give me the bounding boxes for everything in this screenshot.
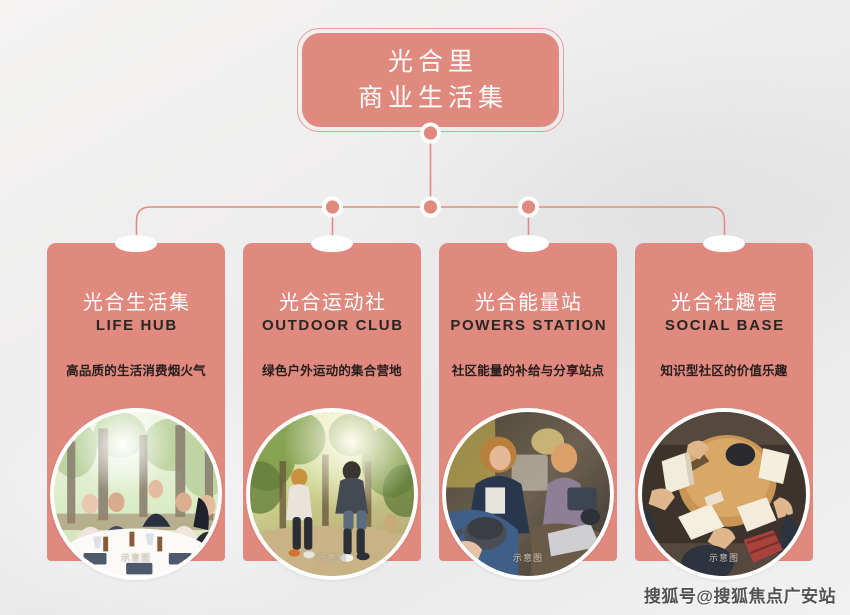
card-title-en: OUTDOOR CLUB xyxy=(243,317,421,334)
category-card-life-hub[interactable]: 光合生活集 LIFE HUB 高品质的生活消费烟火气 xyxy=(47,243,225,561)
photo-watermark: 示意图 xyxy=(250,551,414,564)
card-title-en: POWERS STATION xyxy=(439,317,617,334)
outdoor-dinner-party-photo: 示意图 xyxy=(54,412,218,576)
photo-watermark: 示意图 xyxy=(446,551,610,564)
main-title-line-1: 光合里 xyxy=(383,46,478,78)
photo-watermark: 示意图 xyxy=(54,551,218,564)
category-card-outdoor-club[interactable]: 光合运动社 OUTDOOR CLUB 绿色户外运动的集合营地 xyxy=(243,243,421,561)
category-card-powers-station[interactable]: 光合能量站 POWERS STATION 社区能量的补给与分享站点 xyxy=(439,243,617,561)
card-description: 社区能量的补给与分享站点 xyxy=(439,360,617,379)
card-notch-ellipse xyxy=(507,235,549,252)
photo-watermark: 示意图 xyxy=(642,551,806,564)
card-notch-ellipse xyxy=(703,235,745,252)
main-title-line-2: 商业生活集 xyxy=(353,82,508,114)
card-title-cn: 光合能量站 xyxy=(439,286,617,315)
main-title-inner: 光合里 商业生活集 xyxy=(302,33,559,127)
reading-group-table-photo: 示意图 xyxy=(642,412,806,576)
connector-node-bus-left xyxy=(322,197,343,218)
card-title-cn: 光合生活集 xyxy=(47,286,225,315)
card-title-cn: 光合运动社 xyxy=(243,286,421,315)
card-photo-frame: 示意图 xyxy=(638,408,810,580)
runners-in-forest-photo: 示意图 xyxy=(250,412,414,576)
cafe-coworking-photo: 示意图 xyxy=(446,412,610,576)
card-photo-frame: 示意图 xyxy=(442,408,614,580)
category-card-social-base[interactable]: 光合社趣营 SOCIAL BASE 知识型社区的价值乐趣 xyxy=(635,243,813,561)
card-photo-frame: 示意图 xyxy=(246,408,418,580)
card-description: 知识型社区的价值乐趣 xyxy=(635,360,813,379)
card-description: 绿色户外运动的集合营地 xyxy=(243,360,421,379)
card-title-en: LIFE HUB xyxy=(47,317,225,334)
main-title-box: 光合里 商业生活集 xyxy=(297,28,564,132)
card-title-en: SOCIAL BASE xyxy=(635,317,813,334)
card-notch-ellipse xyxy=(311,235,353,252)
card-description: 高品质的生活消费烟火气 xyxy=(47,360,225,379)
connector-node-bus-right xyxy=(518,197,539,218)
card-title-cn: 光合社趣营 xyxy=(635,286,813,315)
site-watermark: 搜狐号@搜狐焦点广安站 xyxy=(644,582,836,607)
card-photo-frame: 示意图 xyxy=(50,408,222,580)
connector-node-bus-center xyxy=(420,197,441,218)
diagram-canvas: 光合里 商业生活集 光合生活集 LIF xyxy=(0,0,850,615)
card-notch-ellipse xyxy=(115,235,157,252)
